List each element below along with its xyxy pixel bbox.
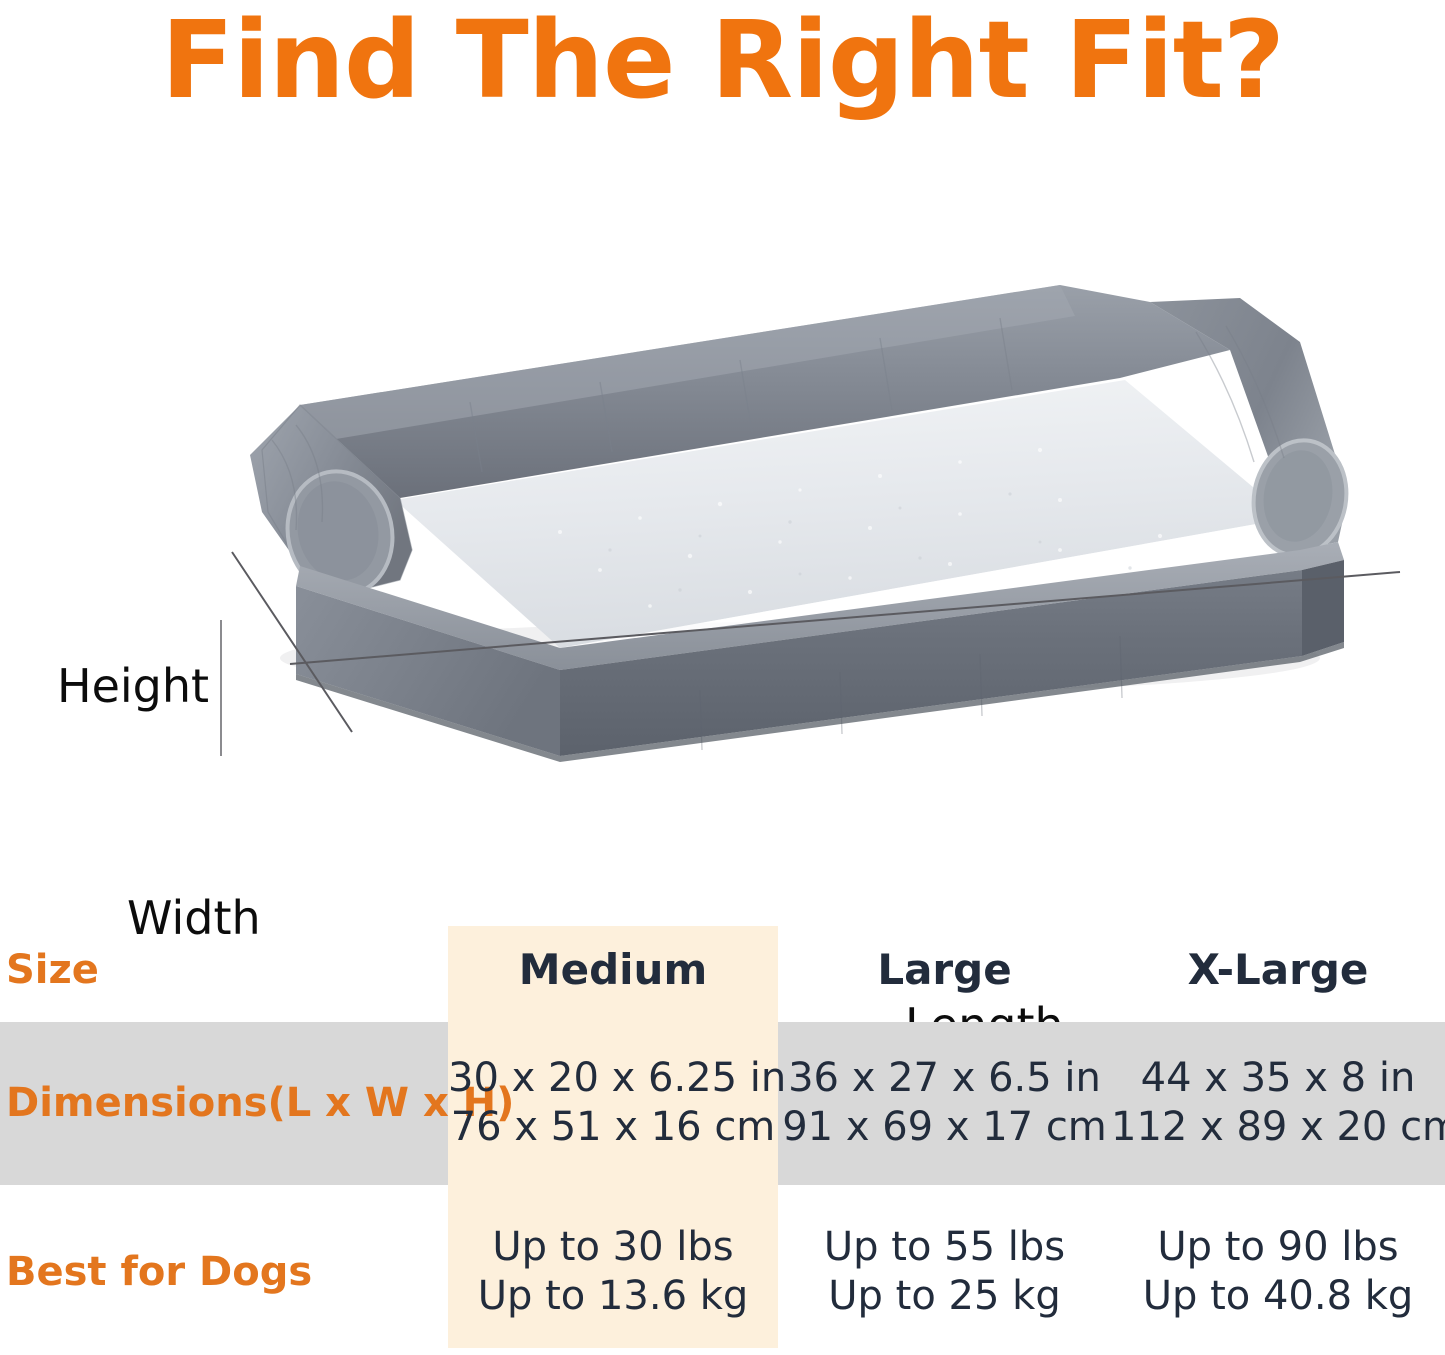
cell-weight-xlarge: Up to 90 lbs Up to 40.8 kg [1111, 1223, 1445, 1321]
row-label-dimensions: Dimensions(L x W x H) [0, 1080, 448, 1126]
cell-text: X-Large [1188, 945, 1369, 994]
cell-text: Large [877, 945, 1011, 994]
height-dimension-label: Height [57, 663, 209, 709]
row-label-size: Size [0, 947, 448, 993]
cell-line-metric: 112 x 89 x 20 cm [1111, 1103, 1445, 1152]
cell-line-imperial: 36 x 27 x 6.5 in [778, 1054, 1111, 1103]
cell-text: Medium [519, 945, 707, 994]
table-grid: Size Medium Large X-Large Dimensions(L x… [0, 908, 1445, 1355]
column-header-medium: Medium [448, 944, 778, 995]
cell-line-metric: Up to 40.8 kg [1111, 1272, 1445, 1321]
cell-line-imperial: 30 x 20 x 6.25 in [448, 1054, 778, 1103]
cell-line-metric: 91 x 69 x 17 cm [778, 1103, 1111, 1152]
table-row: Dimensions(L x W x H) 30 x 20 x 6.25 in … [0, 1018, 1445, 1188]
cell-dimensions-large: 36 x 27 x 6.5 in 91 x 69 x 17 cm [778, 1054, 1111, 1152]
size-spec-table: Size Medium Large X-Large Dimensions(L x… [0, 908, 1445, 1355]
cell-weight-medium: Up to 30 lbs Up to 13.6 kg [448, 1223, 778, 1321]
row-label-best-for-dogs: Best for Dogs [0, 1249, 448, 1295]
column-header-large: Large [778, 944, 1111, 995]
table-row: Size Medium Large X-Large [0, 932, 1445, 1008]
column-header-xlarge: X-Large [1111, 944, 1445, 995]
cell-line-metric: Up to 13.6 kg [448, 1272, 778, 1321]
dimension-guide-lines [0, 250, 1445, 870]
cell-dimensions-xlarge: 44 x 35 x 8 in 112 x 89 x 20 cm [1111, 1054, 1445, 1152]
cell-line-imperial: 44 x 35 x 8 in [1111, 1054, 1445, 1103]
table-row: Best for Dogs Up to 30 lbs Up to 13.6 kg… [0, 1192, 1445, 1352]
cell-line-imperial: Up to 30 lbs [448, 1223, 778, 1272]
cell-line-imperial: Up to 90 lbs [1111, 1223, 1445, 1272]
cell-line-metric: Up to 25 kg [778, 1272, 1111, 1321]
cell-weight-large: Up to 55 lbs Up to 25 kg [778, 1223, 1111, 1321]
page-title: Find The Right Fit? [0, 2, 1445, 122]
cell-dimensions-medium: 30 x 20 x 6.25 in 76 x 51 x 16 cm [448, 1054, 778, 1152]
cell-line-imperial: Up to 55 lbs [778, 1223, 1111, 1272]
cell-line-metric: 76 x 51 x 16 cm [448, 1103, 778, 1152]
size-guide-infographic: Find The Right Fit? [0, 0, 1445, 1355]
product-illustration: Height Width Length [0, 250, 1445, 870]
